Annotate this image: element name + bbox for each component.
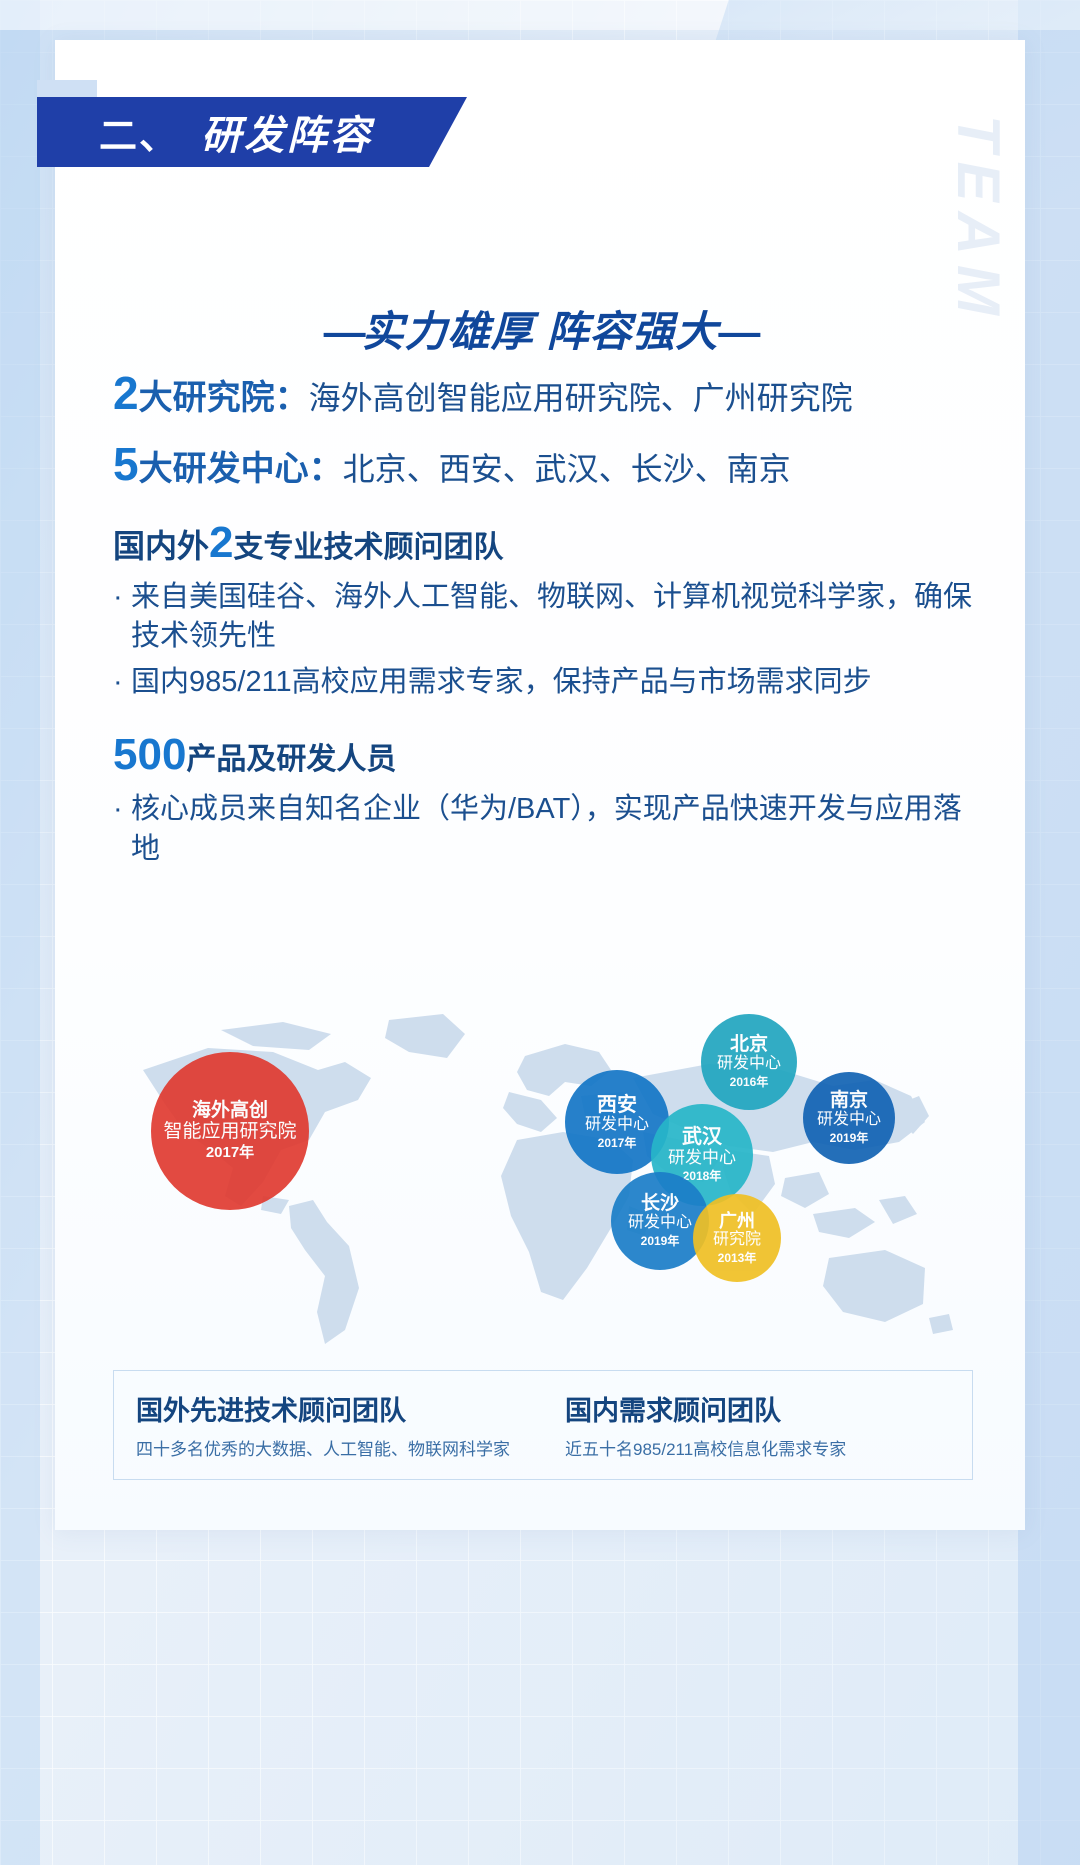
- map-bubble: 南京研发中心2019年: [803, 1072, 895, 1164]
- map-bubble-kind: 研发中心: [717, 1055, 781, 1073]
- map-bubble: 海外高创智能应用研究院2017年: [151, 1052, 309, 1210]
- map-bubble: 长沙研发中心2019年: [611, 1172, 709, 1270]
- stat-accent-number: 5: [113, 438, 139, 490]
- map-bubble-year: 2019年: [641, 1235, 680, 1248]
- stat-detail-text: 海外高创智能应用研究院、广州研究院: [309, 380, 853, 416]
- stat-detail-text: 北京、西安、武汉、长沙、南京: [343, 451, 791, 487]
- footer-subtitle: 近五十名985/211高校信息化需求专家: [565, 1435, 972, 1460]
- subtitle-text: 实力雄厚 阵容强大: [362, 308, 719, 355]
- map-bubble-kind: 研发中心: [628, 1214, 692, 1232]
- map-bubble-city: 西安: [597, 1094, 637, 1116]
- map-bubble-year: 2013年: [718, 1252, 757, 1265]
- bullet-item: · 核心成员来自知名企业（华为/BAT），实现产品快速开发与应用落地: [113, 790, 973, 869]
- subtitle-dash-right: —: [718, 308, 756, 355]
- map-bubble-city: 广州: [719, 1211, 755, 1231]
- map-bubble: 广州研究院2013年: [693, 1194, 781, 1282]
- content-body: 2大研究院：海外高创智能应用研究院、广州研究院 5大研发中心：北京、西安、武汉、…: [113, 370, 973, 875]
- footer-title: 国内需求顾问团队: [565, 1389, 972, 1428]
- banner-tab-decoration: [37, 80, 97, 98]
- section-number: 二、: [99, 105, 179, 160]
- section-head-lead: 国内外: [113, 528, 209, 564]
- bullet-marker-icon: ·: [113, 578, 131, 657]
- stat-accent-label: 大研究院：: [139, 379, 309, 417]
- map-bubble-kind: 研发中心: [668, 1148, 736, 1167]
- bullet-marker-icon: ·: [113, 790, 131, 869]
- section-head-tail: 产品及研发人员: [186, 743, 396, 776]
- section-head-rd-staff: 500产品及研发人员: [113, 730, 973, 780]
- footer-column-domestic: 国内需求顾问团队 近五十名985/211高校信息化需求专家: [543, 1371, 972, 1479]
- bullet-text: 核心成员来自知名企业（华为/BAT），实现产品快速开发与应用落地: [131, 790, 973, 869]
- background-stripe-left: [0, 0, 40, 1865]
- map-bubble: 北京研发中心2016年: [701, 1014, 797, 1110]
- bullet-item: · 来自美国硅谷、海外人工智能、物联网、计算机视觉科学家，确保技术领先性: [113, 578, 973, 657]
- map-bubble-city: 长沙: [641, 1193, 679, 1214]
- map-bubble-kind: 研究院: [713, 1231, 761, 1249]
- map-bubble-kind: 智能应用研究院: [163, 1121, 296, 1142]
- section-head-accent: 500: [113, 730, 186, 779]
- content-card: TEAM 二、 研发阵容 —实力雄厚 阵容强大— 2大研究院：海外高创智能应用研…: [55, 40, 1025, 1530]
- stat-accent-number: 2: [113, 367, 139, 419]
- footer-column-foreign: 国外先进技术顾问团队 四十多名优秀的大数据、人工智能、物联网科学家: [114, 1371, 543, 1479]
- stat-line-rd-centers: 5大研发中心：北京、西安、武汉、长沙、南京: [113, 441, 973, 490]
- bullet-text: 来自美国硅谷、海外人工智能、物联网、计算机视觉科学家，确保技术领先性: [131, 578, 973, 657]
- map-bubble-year: 2016年: [730, 1076, 769, 1089]
- subtitle-dash-left: —: [324, 308, 362, 355]
- section-head-advisory-teams: 国内外2支专业技术顾问团队: [113, 518, 973, 568]
- world-map-area: 海外高创智能应用研究院2017年北京研发中心2016年西安研发中心2017年南京…: [113, 1000, 973, 1360]
- map-bubble-kind: 研发中心: [817, 1111, 881, 1129]
- bullet-marker-icon: ·: [113, 663, 131, 702]
- map-bubble-city: 海外高创: [192, 1100, 268, 1121]
- map-bubble-city: 北京: [730, 1034, 768, 1055]
- map-bubble-kind: 研发中心: [585, 1116, 649, 1134]
- stat-accent-label: 大研发中心：: [139, 450, 343, 488]
- footer-subtitle: 四十多名优秀的大数据、人工智能、物联网科学家: [136, 1435, 543, 1460]
- map-bubble-year: 2017年: [598, 1137, 637, 1150]
- map-bubble-year: 2017年: [206, 1145, 254, 1162]
- section-banner: 二、 研发阵容: [37, 97, 467, 167]
- map-bubble-year: 2019年: [830, 1132, 869, 1145]
- stat-line-research-institutes: 2大研究院：海外高创智能应用研究院、广州研究院: [113, 370, 973, 419]
- page-subtitle: —实力雄厚 阵容强大—: [55, 298, 1025, 359]
- section-head-accent: 2: [209, 518, 233, 567]
- bullet-text: 国内985/211高校应用需求专家，保持产品与市场需求同步: [131, 663, 973, 702]
- section-title: 研发阵容: [201, 103, 373, 161]
- footer-title: 国外先进技术顾问团队: [136, 1389, 543, 1428]
- team-watermark: TEAM: [944, 115, 1013, 325]
- section-head-tail: 支专业技术顾问团队: [234, 531, 504, 564]
- footer-advisory-boxes: 国外先进技术顾问团队 四十多名优秀的大数据、人工智能、物联网科学家 国内需求顾问…: [113, 1370, 973, 1480]
- map-bubble-city: 武汉: [682, 1126, 722, 1148]
- bullet-item: · 国内985/211高校应用需求专家，保持产品与市场需求同步: [113, 663, 973, 702]
- map-bubble-city: 南京: [830, 1090, 868, 1111]
